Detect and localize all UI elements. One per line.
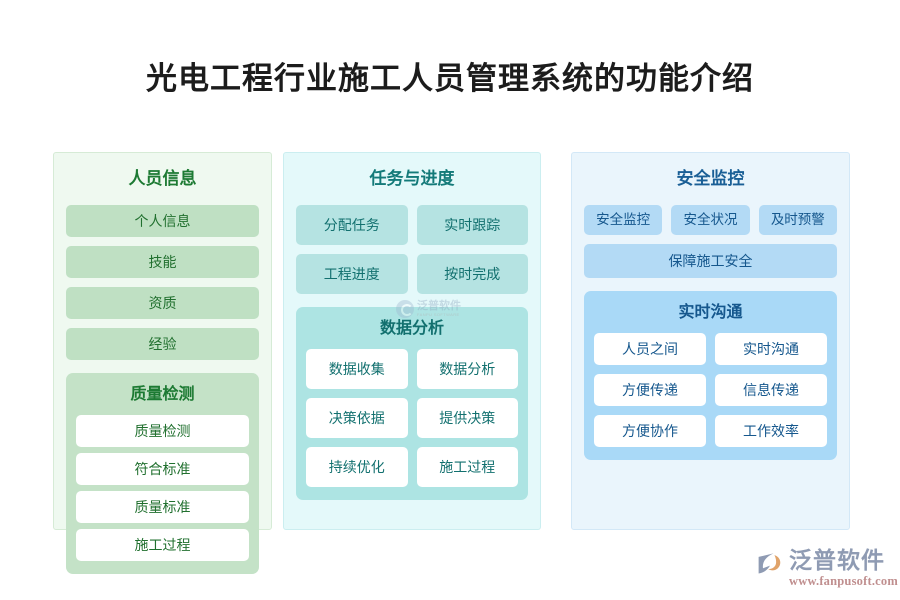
column-task-progress: 任务与进度 分配任务 实时跟踪 工程进度 按时完成 数据分析 数据收集 数据分析… — [283, 152, 541, 530]
column-safety-monitoring: 安全监控 安全监控 安全状况 及时预警 保障施工安全 实时沟通 人员之间 实时沟… — [571, 152, 850, 530]
infographic-page: 光电工程行业施工人员管理系统的功能介绍 人员信息 个人信息 技能 资质 经验 质… — [0, 0, 900, 600]
subpanel-realtime-communication: 实时沟通 人员之间 实时沟通 方便传递 信息传递 方便协作 工作效率 — [584, 291, 837, 460]
chip-item[interactable]: 安全监控 — [584, 205, 662, 235]
column-personnel-info: 人员信息 个人信息 技能 资质 经验 质量检测 质量检测 符合标准 质量标准 施… — [53, 152, 272, 530]
chip-group-realtime-communication: 人员之间 实时沟通 方便传递 信息传递 方便协作 工作效率 — [594, 333, 827, 447]
chip-group-safety-guarantee: 保障施工安全 — [584, 235, 837, 278]
fanpu-swoosh-icon — [756, 549, 784, 577]
page-title: 光电工程行业施工人员管理系统的功能介绍 — [0, 58, 900, 100]
chip-item[interactable]: 实时沟通 — [715, 333, 827, 365]
chip-item[interactable]: 质量检测 — [76, 415, 249, 447]
chip-group-quality-inspection: 质量检测 符合标准 质量标准 施工过程 — [76, 415, 249, 561]
column-header-task-progress: 任务与进度 — [296, 167, 528, 191]
chip-item[interactable]: 安全状况 — [671, 205, 749, 235]
logo-url: www.fanpusoft.com — [789, 575, 898, 588]
chip-group-data-analysis: 数据收集 数据分析 决策依据 提供决策 持续优化 施工过程 — [306, 349, 518, 487]
chip-item[interactable]: 人员之间 — [594, 333, 706, 365]
chip-item[interactable]: 方便传递 — [594, 374, 706, 406]
chip-item[interactable]: 信息传递 — [715, 374, 827, 406]
chip-item[interactable]: 施工过程 — [417, 447, 519, 487]
chip-item[interactable]: 方便协作 — [594, 415, 706, 447]
chip-group-task-progress: 分配任务 实时跟踪 工程进度 按时完成 — [296, 205, 528, 294]
chip-item[interactable]: 数据收集 — [306, 349, 408, 389]
chip-item[interactable]: 决策依据 — [306, 398, 408, 438]
chip-item[interactable]: 技能 — [66, 246, 259, 278]
chip-item[interactable]: 工程进度 — [296, 254, 408, 294]
chip-group-safety-monitoring: 安全监控 安全状况 及时预警 — [584, 205, 837, 235]
chip-item[interactable]: 经验 — [66, 328, 259, 360]
columns-container: 人员信息 个人信息 技能 资质 经验 质量检测 质量检测 符合标准 质量标准 施… — [53, 152, 850, 530]
column-header-safety-monitoring: 安全监控 — [584, 167, 837, 191]
subpanel-header-data-analysis: 数据分析 — [306, 318, 518, 340]
chip-item[interactable]: 施工过程 — [76, 529, 249, 561]
chip-item[interactable]: 按时完成 — [417, 254, 529, 294]
chip-item[interactable]: 分配任务 — [296, 205, 408, 245]
logo-text-wrap: 泛普软件 www.fanpusoft.com — [789, 548, 898, 588]
subpanel-header-realtime-communication: 实时沟通 — [594, 302, 827, 324]
brand-logo: 泛普软件 www.fanpusoft.com — [756, 548, 888, 588]
chip-item[interactable]: 数据分析 — [417, 349, 519, 389]
chip-item[interactable]: 资质 — [66, 287, 259, 319]
subpanel-quality-inspection: 质量检测 质量检测 符合标准 质量标准 施工过程 — [66, 373, 259, 574]
chip-item[interactable]: 提供决策 — [417, 398, 519, 438]
chip-item[interactable]: 个人信息 — [66, 205, 259, 237]
subpanel-header-quality-inspection: 质量检测 — [76, 384, 249, 406]
chip-item[interactable]: 工作效率 — [715, 415, 827, 447]
column-header-personnel-info: 人员信息 — [66, 167, 259, 191]
chip-item-wide[interactable]: 保障施工安全 — [584, 244, 837, 278]
chip-item[interactable]: 及时预警 — [759, 205, 837, 235]
chip-item[interactable]: 持续优化 — [306, 447, 408, 487]
chip-item[interactable]: 质量标准 — [76, 491, 249, 523]
chip-item[interactable]: 实时跟踪 — [417, 205, 529, 245]
subpanel-data-analysis: 数据分析 数据收集 数据分析 决策依据 提供决策 持续优化 施工过程 — [296, 307, 528, 500]
chip-item[interactable]: 符合标准 — [76, 453, 249, 485]
logo-brand-name: 泛普软件 — [789, 548, 898, 573]
chip-group-personnel-info: 个人信息 技能 资质 经验 — [66, 205, 259, 360]
